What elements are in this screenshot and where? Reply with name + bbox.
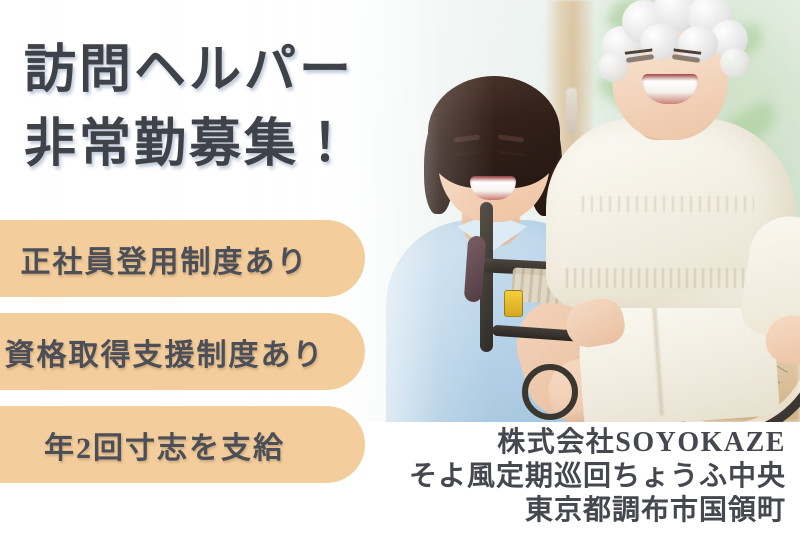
feature-pill-3-label: 年2回寸志を支給 bbox=[0, 423, 365, 467]
company-location: 東京都調布市国領町 bbox=[409, 494, 786, 528]
feature-pill-2: 資格取得支援制度あり bbox=[0, 313, 365, 390]
headline: 訪問ヘルパー 非常勤募集！ bbox=[24, 34, 354, 182]
recruitment-banner: 訪問ヘルパー 非常勤募集！ 正社員登用制度あり 資格取得支援制度あり 年2回寸志… bbox=[0, 0, 800, 534]
caregiver-hair bbox=[428, 76, 560, 188]
elderly-woman-figure bbox=[560, 0, 800, 422]
headline-line-1: 訪問ヘルパー bbox=[24, 34, 354, 108]
elderly-dress-waist bbox=[566, 268, 774, 288]
company-name: 株式会社SOYOKAZE bbox=[409, 426, 786, 460]
feature-pill-1: 正社員登用制度あり bbox=[0, 220, 365, 297]
feature-pill-1-label: 正社員登用制度あり bbox=[0, 237, 365, 281]
feature-pill-2-label: 資格取得支援制度あり bbox=[0, 330, 365, 374]
feature-pill-3: 年2回寸志を支給 bbox=[0, 406, 365, 483]
wheelchair-brake-left bbox=[504, 290, 523, 317]
company-office: そよ風定期巡回ちょうふ中央 bbox=[409, 460, 786, 494]
company-info: 株式会社SOYOKAZE そよ風定期巡回ちょうふ中央 東京都調布市国領町 bbox=[409, 426, 786, 528]
elderly-dress-gather bbox=[582, 196, 754, 212]
headline-line-2: 非常勤募集！ bbox=[24, 108, 354, 182]
feature-pill-list: 正社員登用制度あり 資格取得支援制度あり 年2回寸志を支給 bbox=[0, 220, 365, 499]
